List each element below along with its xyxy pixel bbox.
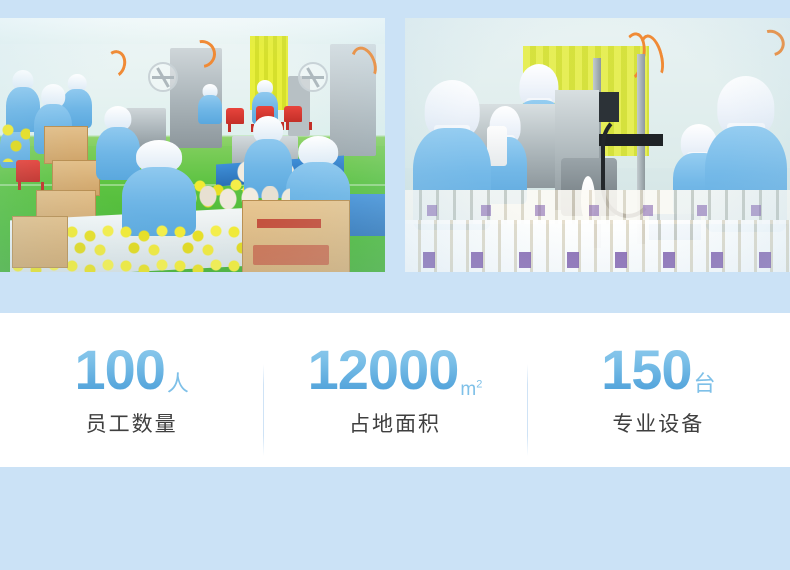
stat-unit: 台 xyxy=(694,371,716,396)
stat-item-equipment: 150台 专业设备 xyxy=(527,342,790,438)
statistics-band: 100人 员工数量 12000m2 占地面积 150台 专业设备 xyxy=(0,313,790,467)
stat-value: 150台 xyxy=(527,342,790,398)
stat-item-employees: 100人 员工数量 xyxy=(0,342,263,438)
photo-vignette xyxy=(405,18,790,272)
stat-label: 占地面积 xyxy=(263,408,526,438)
stat-unit-superscript: 2 xyxy=(476,379,482,391)
stat-unit: 人 xyxy=(167,371,189,396)
stat-value: 12000m2 xyxy=(263,342,526,398)
stat-unit: m2 xyxy=(460,379,482,400)
stat-label: 员工数量 xyxy=(0,408,263,438)
factory-stats-page: 100人 员工数量 12000m2 占地面积 150台 专业设备 xyxy=(0,0,790,570)
stat-label: 专业设备 xyxy=(527,408,790,438)
stat-item-floor-area: 12000m2 占地面积 xyxy=(263,342,526,438)
photo-content xyxy=(405,18,790,272)
bottom-blue-band xyxy=(0,467,790,570)
photo-content xyxy=(0,18,385,272)
stat-value: 100人 xyxy=(0,342,263,398)
photo-gallery-band xyxy=(0,0,790,313)
stat-unit-base: m xyxy=(460,379,476,400)
capping-machine-photo xyxy=(405,18,790,272)
stat-number: 150 xyxy=(601,338,691,401)
stat-number: 100 xyxy=(74,338,164,401)
photo-vignette xyxy=(0,18,385,272)
stat-number: 12000 xyxy=(308,338,459,401)
factory-assembly-line-photo xyxy=(0,18,385,272)
